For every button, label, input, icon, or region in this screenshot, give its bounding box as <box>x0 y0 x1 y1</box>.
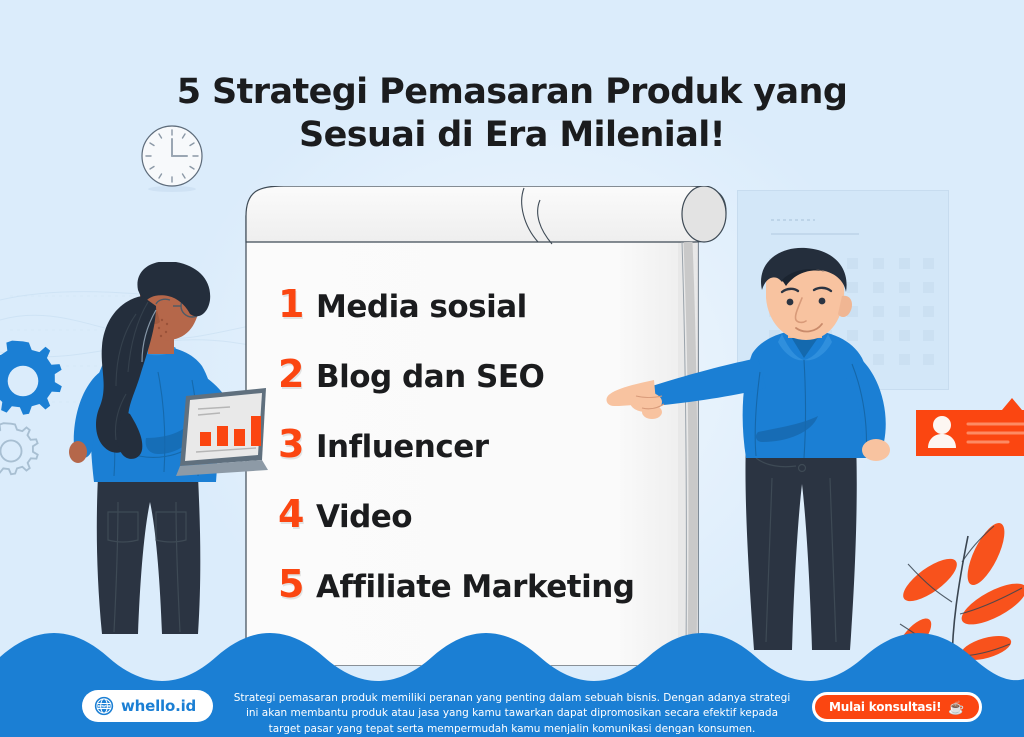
coffee-cup-icon: ☕ <box>948 701 964 714</box>
list-item: 3 Influencer <box>278 422 718 492</box>
list-item-number: 4 <box>278 492 316 536</box>
list-item: 1 Media sosial <box>278 282 718 352</box>
list-item-label: Influencer <box>316 429 489 465</box>
footer-description: Strategi pemasaran produk memiliki peran… <box>232 691 792 737</box>
list-item-label: Blog dan SEO <box>316 359 544 395</box>
list-item-number: 3 <box>278 422 316 466</box>
contact-card-icon <box>916 398 1024 464</box>
list-item: 2 Blog dan SEO <box>278 352 718 422</box>
woman-with-laptop-illustration <box>30 262 270 662</box>
whello-logo[interactable]: www whello.id <box>82 690 213 722</box>
list-item-number: 1 <box>278 282 316 326</box>
strategy-list: 1 Media sosial 2 Blog dan SEO 3 Influenc… <box>278 282 718 632</box>
list-item-label: Media sosial <box>316 289 527 325</box>
svg-text:www: www <box>98 704 110 709</box>
logo-text: whello.id <box>121 697 196 715</box>
laptop-icon <box>176 388 268 476</box>
list-item-number: 2 <box>278 352 316 396</box>
cta-label: Mulai konsultasi! <box>829 700 941 714</box>
list-item-label: Video <box>316 499 412 535</box>
start-consultation-button[interactable]: Mulai konsultasi! ☕ <box>812 692 982 722</box>
title-line-2: Sesuai di Era Milenial! <box>0 114 1024 157</box>
page-title: 5 Strategi Pemasaran Produk yang Sesuai … <box>0 71 1024 157</box>
list-item-label: Affiliate Marketing <box>316 569 634 605</box>
infographic-poster: 5 Strategi Pemasaran Produk yang Sesuai … <box>0 0 1024 737</box>
list-item: 4 Video <box>278 492 718 562</box>
list-item-number: 5 <box>278 562 316 606</box>
title-line-1: 5 Strategi Pemasaran Produk yang <box>177 72 848 112</box>
globe-www-icon: www <box>94 696 114 716</box>
